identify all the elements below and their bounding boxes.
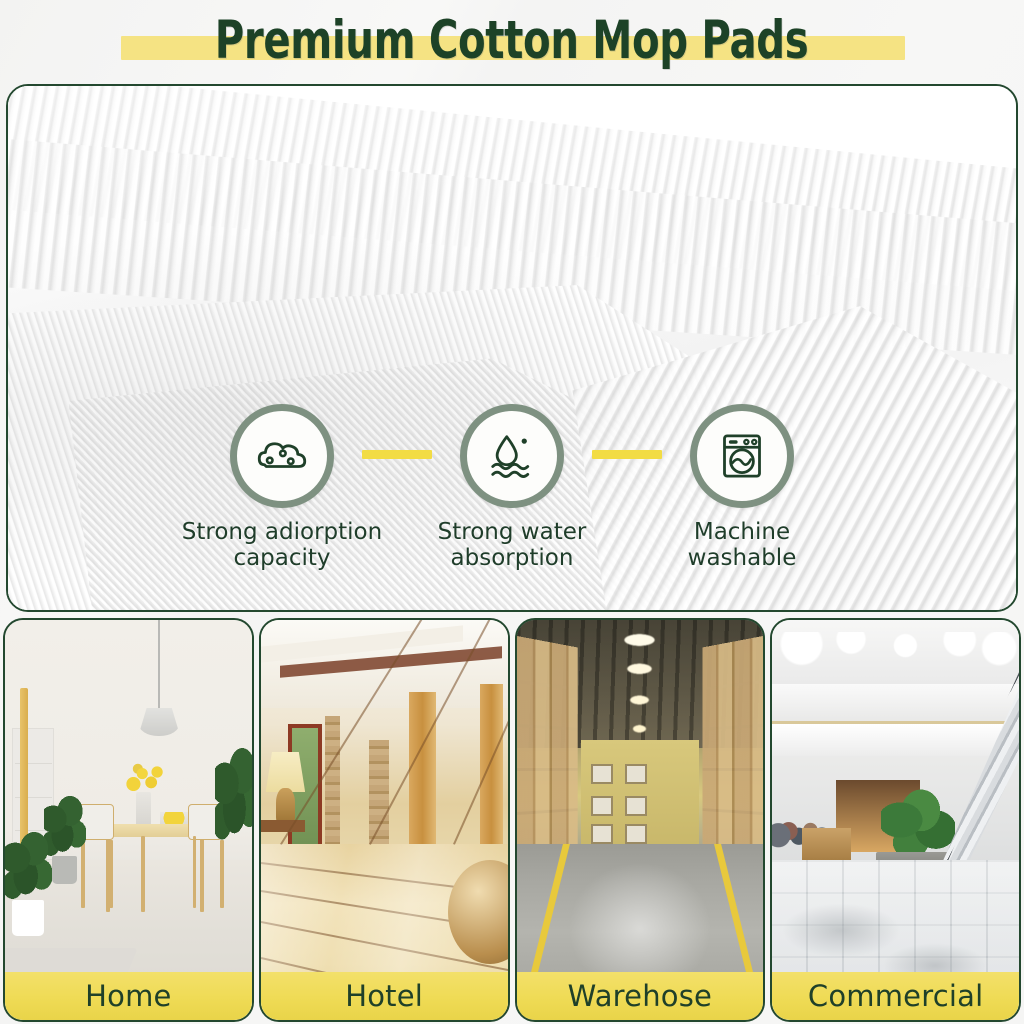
home-photo xyxy=(5,620,252,1020)
use-case-label: Commercial xyxy=(808,979,983,1013)
use-case-card-commercial[interactable]: Commercial xyxy=(770,618,1021,1022)
water-drop-icon xyxy=(484,428,540,484)
sponge-icon xyxy=(254,428,310,484)
hero-product-panel: Strong adiorption capacity Strong water … xyxy=(6,84,1018,612)
feature-label: Machine washable xyxy=(688,519,797,571)
use-case-band: Commercial xyxy=(772,972,1019,1020)
title-text: Premium Cotton Mop Pads xyxy=(215,12,809,70)
use-case-card-hotel[interactable]: Hotel xyxy=(259,618,510,1022)
feature-badge-circle xyxy=(690,404,794,508)
feature-label: Strong adiorption capacity xyxy=(182,519,382,571)
use-case-card-row: Home xyxy=(3,618,1021,1022)
feature-badge-row: Strong adiorption capacity Strong water … xyxy=(8,404,1016,604)
washing-machine-icon xyxy=(714,428,770,484)
use-case-label: Warehose xyxy=(568,979,712,1013)
commercial-photo xyxy=(772,620,1019,1020)
use-case-band: Warehose xyxy=(517,972,764,1020)
feature-label: Strong water absorption xyxy=(438,519,587,571)
use-case-band: Home xyxy=(5,972,252,1020)
hotel-photo xyxy=(261,620,508,1020)
feature-item-machine-washable: Machine washable xyxy=(627,404,857,571)
use-case-card-warehouse[interactable]: Warehose xyxy=(515,618,766,1022)
use-case-label: Hotel xyxy=(345,979,423,1013)
feature-badge-circle xyxy=(230,404,334,508)
warehouse-photo xyxy=(517,620,764,1020)
use-case-card-home[interactable]: Home xyxy=(3,618,254,1022)
infographic-page: Premium Cotton Mop Pads xyxy=(0,0,1024,1024)
feature-item-adsorption: Strong adiorption capacity xyxy=(167,404,397,571)
use-case-band: Hotel xyxy=(261,972,508,1020)
feature-item-water-absorption: Strong water absorption xyxy=(397,404,627,571)
use-case-label: Home xyxy=(85,979,171,1013)
feature-badge-circle xyxy=(460,404,564,508)
page-title: Premium Cotton Mop Pads xyxy=(0,0,1024,82)
